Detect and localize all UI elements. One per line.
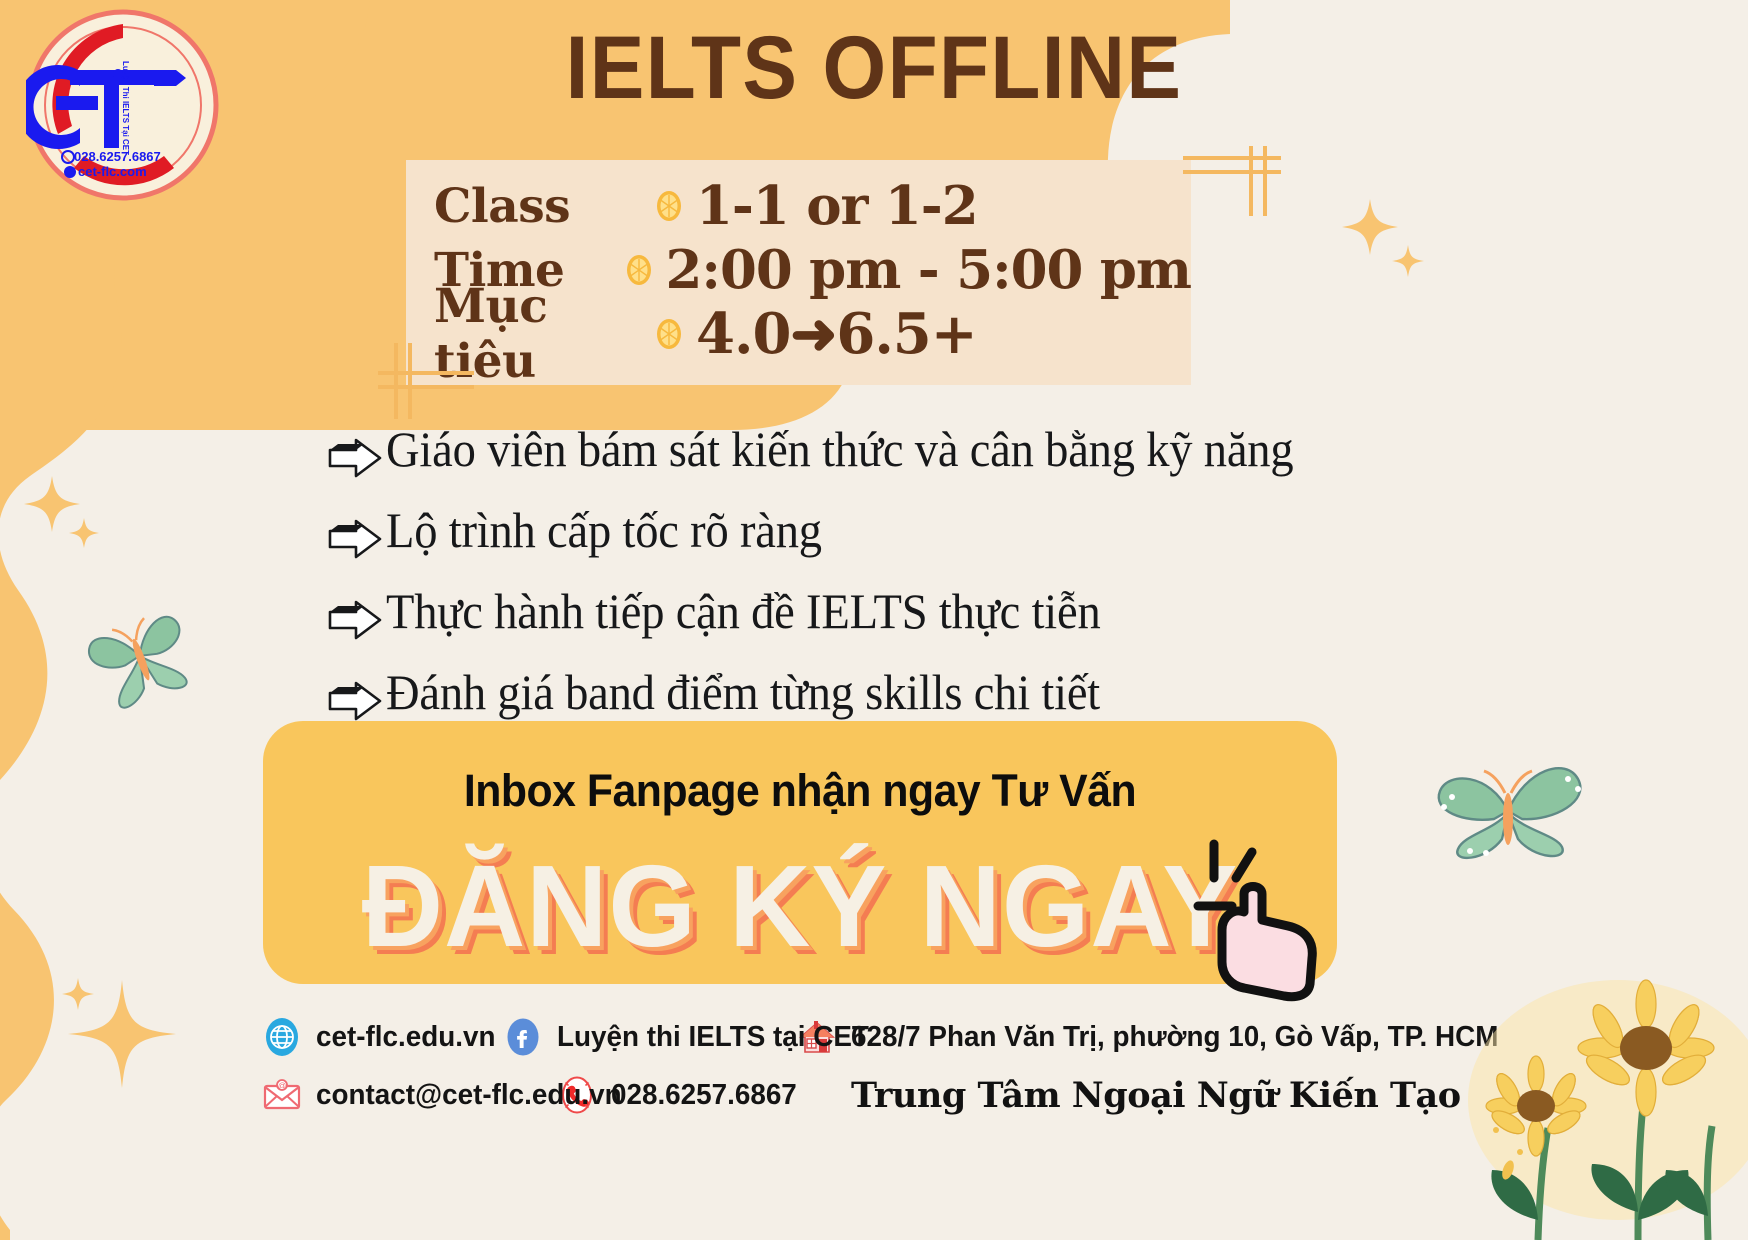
contact-facebook[interactable]: Luyện thi IELTS tại CET [503, 1017, 797, 1057]
center-name-text: Trung Tâm Ngoại Ngữ Kiến Tạo [851, 1075, 1461, 1116]
arrow-right-icon [326, 598, 386, 644]
info-box: Class 1-1 or 1-2 Time [406, 160, 1191, 385]
cta-subtitle: Inbox Fanpage nhận ngay Tư Vấn [290, 765, 1310, 817]
email-text: contact@cet-flc.edu.vn [316, 1079, 622, 1112]
citrus-bullet-icon [650, 187, 688, 225]
arrow-right-icon [326, 436, 386, 482]
pointing-hand-cursor-icon [1192, 838, 1342, 1003]
contact-email[interactable]: @ contact@cet-flc.edu.vn [262, 1075, 557, 1115]
info-row: Mục tiêu 4.0➜6.5+ [434, 302, 1191, 366]
arrow-right-icon [326, 679, 386, 725]
contact-website[interactable]: cet-flc.edu.vn [262, 1017, 503, 1057]
page-title: IELTS OFFLINE [70, 16, 1678, 119]
list-item-label: Thực hành tiếp cận đề IELTS thực tiễn [386, 582, 1101, 641]
globe-icon [262, 1017, 302, 1057]
butterfly-icon-left [82, 598, 197, 710]
list-item: Đánh giá band điểm từng skills chi tiết [326, 663, 1526, 725]
list-item: Giáo viên bám sát kiến thức và cân bằng … [326, 420, 1526, 482]
register-cta-button[interactable]: Inbox Fanpage nhận ngay Tư Vấn ĐĂNG KÝ N… [263, 721, 1337, 984]
list-item-label: Đánh giá band điểm từng skills chi tiết [386, 663, 1100, 722]
feature-list: Giáo viên bám sát kiến thức và cân bằng … [326, 420, 1526, 744]
info-label-class: Class [434, 179, 650, 234]
website-text: cet-flc.edu.vn [316, 1021, 495, 1054]
hatch-decoration-top-right [1177, 146, 1287, 224]
svg-text:cet-flc.com: cet-flc.com [78, 164, 147, 179]
footer-contacts: cet-flc.edu.vn Luyện thi IELTS tại CET [262, 1008, 1462, 1124]
info-value-goal: 4.0➜6.5+ [696, 301, 977, 367]
address-text: 628/7 Phan Văn Trị, phường 10, Gò Vấp, T… [851, 1021, 1498, 1054]
arrow-right-icon [326, 517, 386, 563]
citrus-bullet-icon [650, 315, 688, 353]
footer-row-2: @ contact@cet-flc.edu.vn [262, 1066, 1462, 1124]
list-item-label: Giáo viên bám sát kiến thức và cân bằng … [386, 420, 1293, 479]
facebook-text: Luyện thi IELTS tại CET [557, 1021, 869, 1054]
info-label-goal: Mục tiêu [434, 279, 650, 389]
footer-row-1: cet-flc.edu.vn Luyện thi IELTS tại CET [262, 1008, 1462, 1066]
contact-address: 628/7 Phan Văn Trị, phường 10, Gò Vấp, T… [797, 1017, 1525, 1057]
info-value-time: 2:00 pm - 5:00 pm [666, 239, 1191, 301]
svg-text:028.6257.6867: 028.6257.6867 [74, 149, 161, 164]
info-row: Class 1-1 or 1-2 [434, 174, 1191, 238]
envelope-icon: @ [262, 1075, 302, 1115]
sparkle-icon-3 [1340, 195, 1426, 281]
butterfly-icon-right [1408, 735, 1608, 885]
sparkle-icon-1 [22, 470, 100, 548]
info-value-class: 1-1 or 1-2 [696, 175, 978, 237]
phone-text: 028.6257.6867 [611, 1079, 797, 1112]
cta-main-label: ĐĂNG KÝ NGAY [279, 839, 1321, 973]
center-name: Trung Tâm Ngoại Ngữ Kiến Tạo [851, 1075, 1461, 1116]
list-item-label: Lộ trình cấp tốc rõ ràng [386, 501, 822, 560]
poster-root: Luyện Thi IELTS Tại CET 028.6257.6867 ce… [0, 0, 1748, 1240]
list-item: Lộ trình cấp tốc rõ ràng [326, 501, 1526, 563]
facebook-icon [503, 1017, 543, 1057]
svg-text:@: @ [278, 1082, 286, 1091]
citrus-bullet-icon [620, 251, 658, 289]
list-item: Thực hành tiếp cận đề IELTS thực tiễn [326, 582, 1526, 644]
sparkle-icon-2 [62, 970, 190, 1098]
